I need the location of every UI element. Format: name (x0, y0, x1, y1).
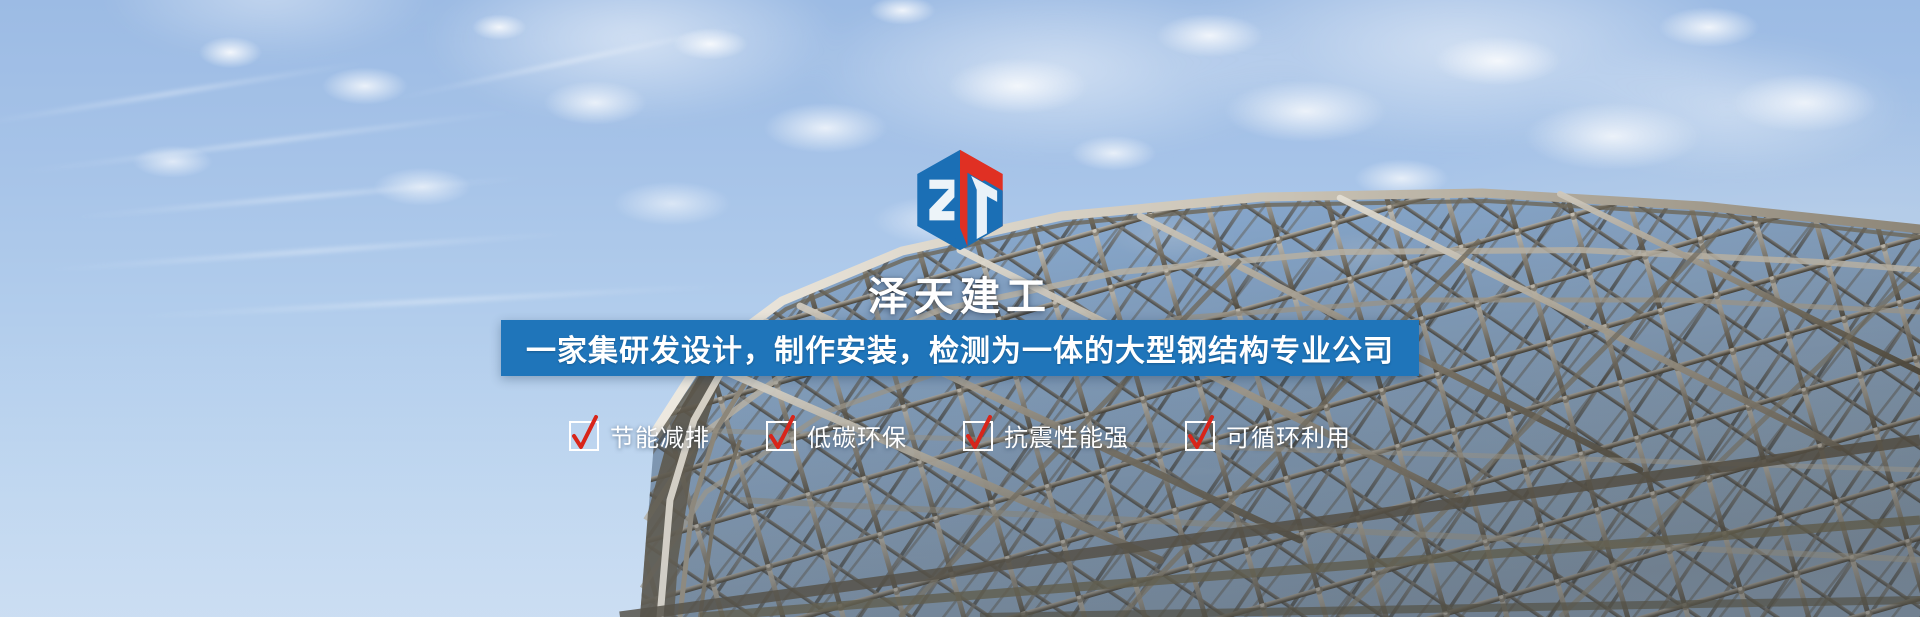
hexagon-zt-logo-icon (912, 148, 1008, 252)
banner-content: 泽天建工 一家集研发设计，制作安装，检测为一体的大型钢结构专业公司 节能减排 低… (0, 0, 1920, 617)
red-check-icon (1185, 421, 1215, 451)
feature-item: 可循环利用 (1185, 418, 1351, 453)
red-check-icon (766, 421, 796, 451)
red-check-icon (569, 421, 599, 451)
hero-banner: 泽天建工 一家集研发设计，制作安装，检测为一体的大型钢结构专业公司 节能减排 低… (0, 0, 1920, 617)
tagline-bar: 一家集研发设计，制作安装，检测为一体的大型钢结构专业公司 (501, 320, 1419, 376)
feature-label: 可循环利用 (1226, 418, 1351, 453)
brand-name: 泽天建工 (868, 264, 1052, 322)
feature-item: 节能减排 (569, 418, 710, 453)
feature-label: 抗震性能强 (1004, 418, 1129, 453)
feature-item: 抗震性能强 (963, 418, 1129, 453)
feature-label: 低碳环保 (807, 418, 907, 453)
feature-item: 低碳环保 (766, 418, 907, 453)
feature-label: 节能减排 (610, 418, 710, 453)
tagline-text: 一家集研发设计，制作安装，检测为一体的大型钢结构专业公司 (526, 326, 1394, 370)
brand-block: 泽天建工 (868, 148, 1052, 322)
feature-list: 节能减排 低碳环保 抗震性能强 可循环利用 (569, 418, 1351, 453)
red-check-icon (963, 421, 993, 451)
